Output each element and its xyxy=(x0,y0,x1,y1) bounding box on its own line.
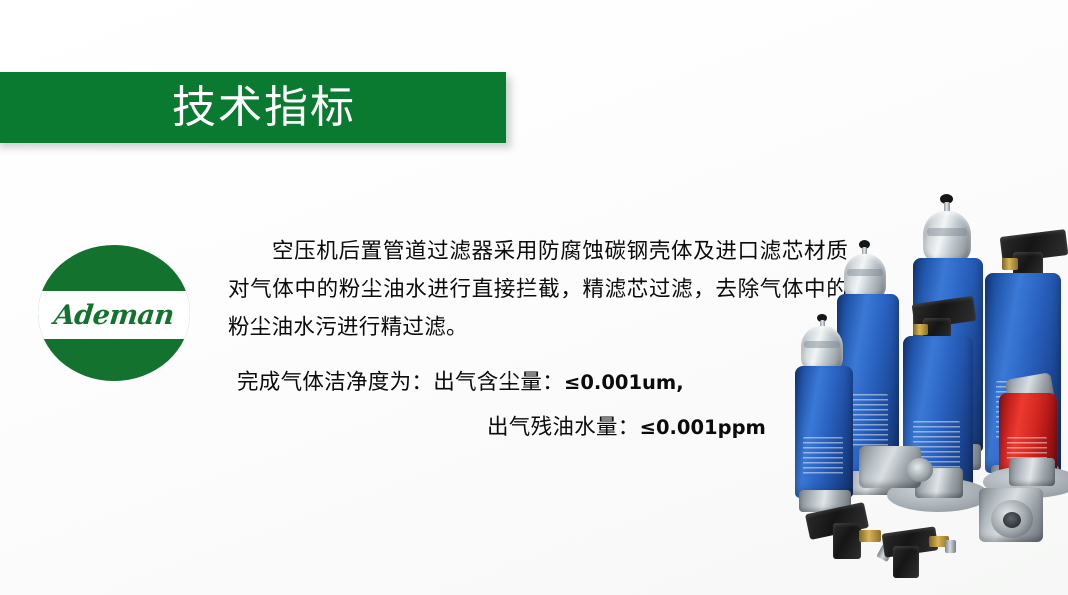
slide-root: 技术指标 Ademan 空压机后置管道过滤器采用防腐蚀碳钢壳体及进口滤芯材质对气… xyxy=(0,0,1068,595)
logo-wordmark: Ademan xyxy=(53,302,176,329)
housing-base-flange xyxy=(1009,458,1055,486)
housing-label xyxy=(803,437,842,477)
spec-value-dust: ≤0.001um, xyxy=(564,371,684,394)
port-adapter-bore xyxy=(1003,512,1021,528)
brand-logo: Ademan xyxy=(38,245,190,381)
valve-brass-fitting xyxy=(1002,258,1018,270)
description-block: 空压机后置管道过滤器采用防腐蚀碳钢壳体及进口滤芯材质对气体中的粉尘油水进行直接拦… xyxy=(228,232,848,346)
solenoid-valve-body xyxy=(833,523,861,559)
spec-label-oil: 出气残油水量： xyxy=(487,415,640,439)
product-photo xyxy=(795,178,1068,578)
spec-label-dust: 出气含尘量： xyxy=(433,370,564,394)
spec-value-oil: ≤0.001ppm xyxy=(640,416,766,439)
valve-brass-fitting xyxy=(859,530,881,542)
solenoid-valve-body xyxy=(893,546,919,578)
valve-outlet-tip xyxy=(945,540,956,553)
valve-brass-fitting xyxy=(913,324,928,335)
page-title: 技术指标 xyxy=(172,86,356,130)
description-paragraph: 空压机后置管道过滤器采用防腐蚀碳钢壳体及进口滤芯材质对气体中的粉尘油水进行直接拦… xyxy=(228,232,848,346)
housing-body xyxy=(795,366,853,498)
spec-row-dust: 完成气体洁净度为：出气含尘量：≤0.001um, xyxy=(237,360,877,405)
specifications-block: 完成气体洁净度为：出气含尘量：≤0.001um, 出气残油水量：≤0.001pp… xyxy=(237,360,877,450)
filter-head-port xyxy=(907,458,933,482)
spec-row-oil: 出气残油水量：≤0.001ppm xyxy=(237,405,877,450)
auto-drain-dome-icon xyxy=(923,211,971,263)
title-banner: 技术指标 xyxy=(0,72,506,143)
spec-lead-label: 完成气体洁净度为： xyxy=(237,370,433,394)
logo-band: Ademan xyxy=(38,291,190,339)
